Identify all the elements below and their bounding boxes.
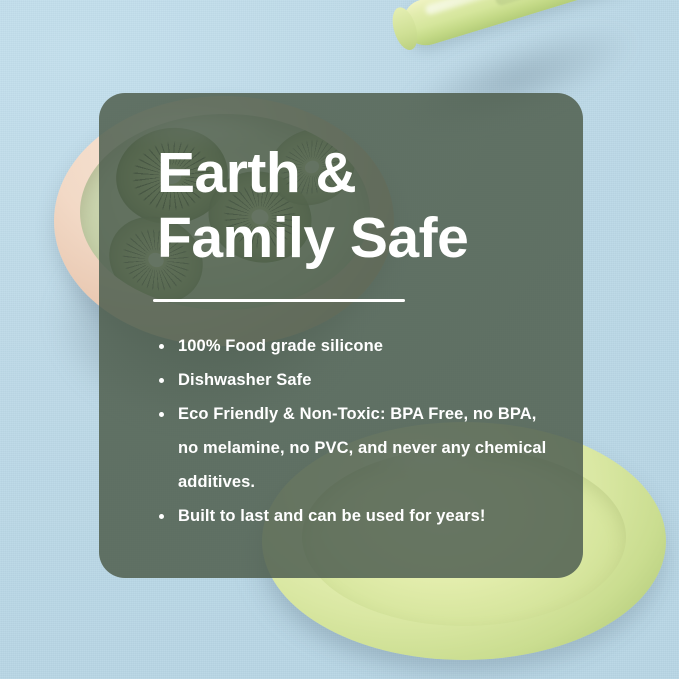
title-divider [153, 299, 405, 302]
feature-list: 100% Food grade silicone Dishwasher Safe… [157, 329, 557, 533]
straw-emboss-mark [494, 0, 570, 7]
product-feature-image: Earth & Family Safe 100% Food grade sili… [0, 0, 679, 679]
list-item: 100% Food grade silicone [157, 329, 557, 363]
feature-card: Earth & Family Safe 100% Food grade sili… [99, 93, 583, 578]
card-title: Earth & Family Safe [157, 141, 557, 271]
list-item: Eco Friendly & Non-Toxic: BPA Free, no B… [157, 397, 557, 499]
list-item: Built to last and can be used for years! [157, 499, 557, 533]
list-item: Dishwasher Safe [157, 363, 557, 397]
